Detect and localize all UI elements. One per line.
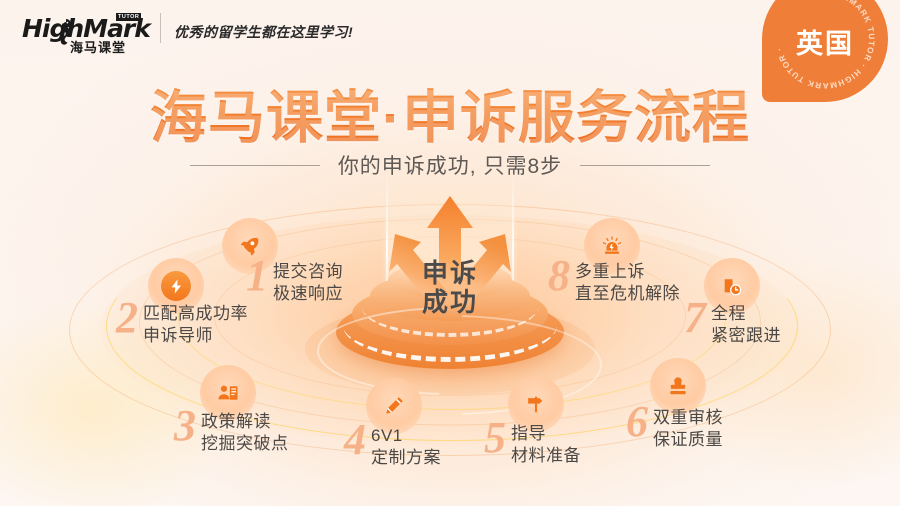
step-8-number: 8 (548, 258, 570, 295)
step-1-line2: 极速响应 (273, 284, 343, 305)
step-6-text: 6 双重审核 保证质量 (626, 404, 723, 450)
subtitle-rule-left (190, 165, 320, 166)
step-2-line1: 匹配高成功率 (143, 304, 248, 325)
step-4-line2: 定制方案 (371, 448, 441, 469)
profile-doc-icon (211, 376, 245, 410)
step-7-line2: 紧密跟进 (711, 326, 781, 347)
step-1-line1: 提交咨询 (273, 262, 343, 283)
bolt-icon (161, 271, 191, 301)
step-2-number: 2 (116, 300, 138, 337)
subtitle-rule-right (580, 165, 710, 166)
step-5-line1: 指导 (511, 424, 581, 445)
center-success-label: 申诉 成功 (422, 259, 478, 317)
step-5-text: 5 指导 材料准备 (484, 420, 581, 466)
step-2-line2: 申诉导师 (143, 326, 248, 347)
header-tagline: 优秀的留学生都在这里学习! (174, 22, 353, 42)
step-6-line1: 双重审核 (653, 408, 723, 429)
step-8-line1: 多重上诉 (575, 262, 680, 283)
pen-icon (377, 389, 411, 423)
badge-country-label: 英国 (762, 22, 888, 61)
step-4-number: 4 (344, 422, 366, 459)
step-1-number: 1 (246, 258, 268, 295)
page-title: 海马课堂·申诉服务流程 (0, 72, 900, 154)
step-8-text: 8 多重上诉 直至危机解除 (548, 258, 680, 304)
step-5-line2: 材料准备 (511, 446, 581, 467)
poster-canvas: HighMark TUTOR 海马课堂 优秀的留学生都在这里学习! HIGHMA… (0, 0, 900, 506)
stamp-icon (661, 369, 695, 403)
brand-logo[interactable]: HighMark TUTOR 海马课堂 (22, 10, 152, 54)
logo-tutor-tag: TUTOR (116, 13, 141, 21)
step-3-text: 3 政策解读 挖掘突破点 (174, 408, 289, 454)
subtitle-row: 你的申诉成功, 只需8步 (0, 150, 900, 180)
center-label-line2: 成功 (422, 288, 478, 317)
clock-track-icon (715, 269, 749, 303)
step-4-line1: 6V1 (371, 426, 441, 447)
step-3-number: 3 (174, 408, 196, 445)
step-4-text: 4 6V1 定制方案 (344, 422, 441, 468)
step-5-number: 5 (484, 420, 506, 457)
page-subtitle: 你的申诉成功, 只需8步 (338, 150, 562, 180)
step-7-text: 7 全程 紧密跟进 (684, 300, 781, 346)
step-8-line2: 直至危机解除 (575, 284, 680, 305)
step-6-line2: 保证质量 (653, 430, 723, 451)
logo-chinese-name: 海马课堂 (70, 37, 126, 56)
step-6-number: 6 (626, 404, 648, 441)
header-divider (160, 13, 161, 43)
step-3-line1: 政策解读 (201, 412, 289, 433)
step-2-text: 2 匹配高成功率 申诉导师 (116, 300, 248, 346)
step-7-number: 7 (684, 300, 706, 337)
step-1-text: 1 提交咨询 极速响应 (246, 258, 343, 304)
signpost-icon (519, 387, 553, 421)
step-7-line1: 全程 (711, 304, 781, 325)
step-3-line2: 挖掘突破点 (201, 434, 289, 455)
center-label-line1: 申诉 (422, 259, 478, 288)
